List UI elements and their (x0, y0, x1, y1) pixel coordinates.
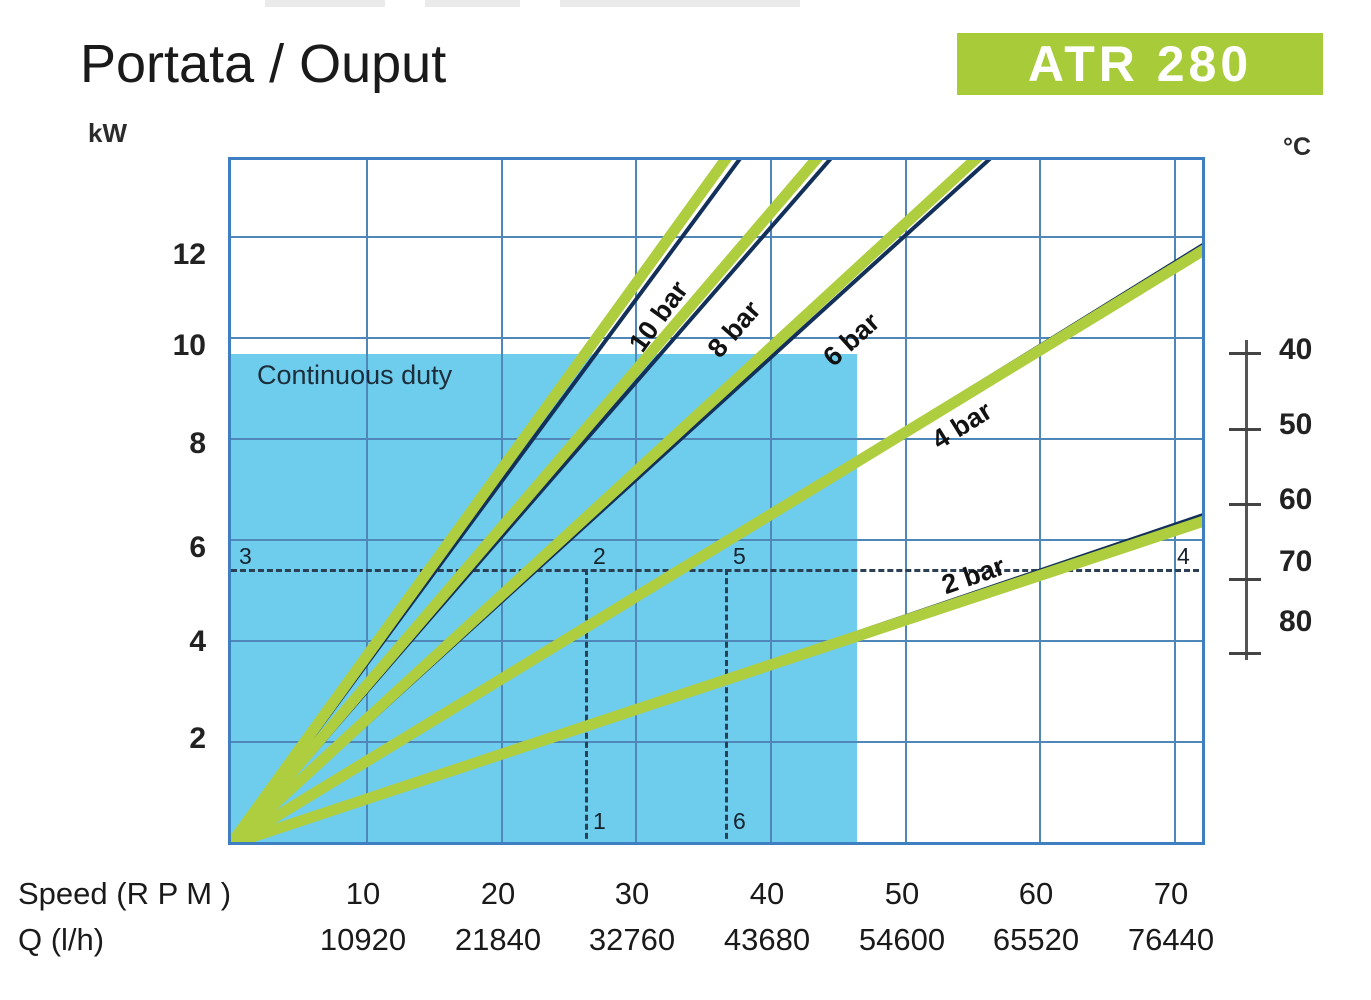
speed-value-70: 70 (1111, 876, 1231, 912)
flow-value-43680: 43680 (707, 922, 827, 958)
speed-value-30: 30 (572, 876, 692, 912)
annotation-marker-1: 1 (593, 808, 606, 835)
annotation-marker-6: 6 (733, 808, 746, 835)
flow-value-76440: 76440 (1111, 922, 1231, 958)
annotation-marker-2: 2 (593, 543, 606, 570)
chart-page: Portata / Ouput ATR 280 kW °C 12 10 8 6 … (0, 0, 1371, 1000)
flow-value-10920: 10920 (303, 922, 423, 958)
annotation-marker-3: 3 (239, 543, 252, 570)
axis-value-table: Speed (R P M ) Q (l/h) 10 20 30 40 50 60… (0, 872, 1371, 982)
flow-value-21840: 21840 (438, 922, 558, 958)
page-title: Portata / Ouput (80, 33, 446, 95)
temp-tick-50 (1229, 428, 1261, 431)
y-tick-2: 2 (189, 722, 206, 756)
model-badge-label: ATR 280 (1028, 39, 1252, 89)
speed-value-10: 10 (303, 876, 423, 912)
temperature-axis-line (1245, 340, 1248, 660)
temp-label-40: 40 (1279, 333, 1312, 367)
y-axis-tick-column: 12 10 8 6 4 2 (150, 0, 206, 1000)
temp-label-80: 80 (1279, 605, 1312, 639)
speed-value-20: 20 (438, 876, 558, 912)
speed-value-60: 60 (976, 876, 1096, 912)
y-tick-4: 4 (189, 625, 206, 659)
speed-value-40: 40 (707, 876, 827, 912)
y-tick-8: 8 (189, 427, 206, 461)
curve-10-bar (231, 160, 742, 842)
temp-label-50: 50 (1279, 408, 1312, 442)
y-axis-unit-label: kW (88, 118, 127, 149)
annotation-marker-5: 5 (733, 543, 746, 570)
y-tick-12: 12 (173, 238, 206, 272)
temp-tick-60 (1229, 503, 1261, 506)
speed-value-50: 50 (842, 876, 962, 912)
row-label-speed: Speed (R P M ) (18, 876, 231, 912)
temp-label-60: 60 (1279, 483, 1312, 517)
annotation-marker-4: 4 (1177, 543, 1190, 570)
plot-inner: Continuous duty (231, 160, 1202, 842)
model-badge: ATR 280 (957, 33, 1323, 95)
temp-tick-40 (1229, 352, 1261, 355)
y-tick-6: 6 (189, 531, 206, 565)
plot-area: Continuous duty (228, 157, 1205, 845)
temp-label-70: 70 (1279, 545, 1312, 579)
temp-tick-80 (1229, 652, 1261, 655)
flow-value-65520: 65520 (976, 922, 1096, 958)
curve-6-bar (231, 160, 993, 842)
y-tick-10: 10 (173, 329, 206, 363)
temperature-axis-unit-label: °C (1283, 133, 1311, 162)
pressure-curves (231, 160, 1202, 842)
temp-tick-70 (1229, 578, 1261, 581)
flow-value-32760: 32760 (572, 922, 692, 958)
row-label-flow: Q (l/h) (18, 922, 104, 958)
flow-value-54600: 54600 (842, 922, 962, 958)
